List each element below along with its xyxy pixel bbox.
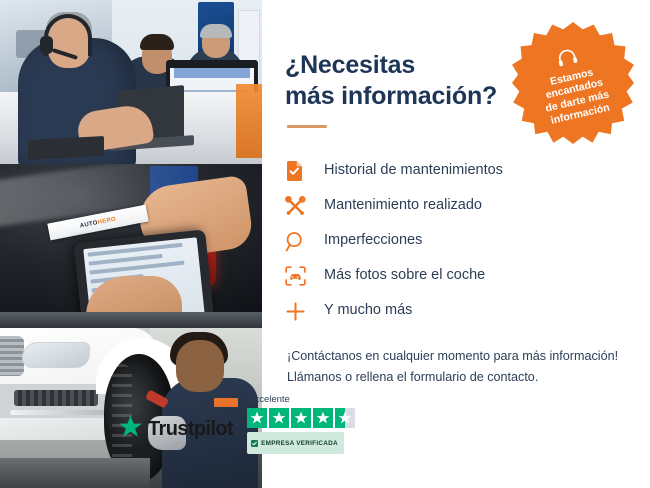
trustpilot-star-icon — [118, 415, 143, 444]
rating-star-full — [313, 408, 333, 428]
contact-paragraph: ¡Contáctanos en cualquier momento para m… — [287, 346, 624, 388]
headline-line-2: más información? — [285, 82, 497, 110]
list-item-label: Historial de mantenimientos — [324, 163, 503, 179]
trustpilot-rating-block[interactable]: Trustpilot Excelente — [118, 394, 355, 454]
wrench-screwdriver-icon — [285, 196, 315, 217]
ruler-brand-text: AUTOHERO — [79, 216, 116, 229]
car-inspection-ruler-photo: AUTOHERO — [0, 164, 262, 328]
headset-earcup — [40, 36, 53, 54]
car-grille — [0, 336, 24, 376]
workshop-floor-rail — [0, 312, 262, 328]
list-item: Historial de mantenimientos — [285, 154, 624, 188]
mechanic-head — [176, 340, 224, 392]
rating-star-full — [291, 408, 311, 428]
list-item: Más fotos sobre el coche — [285, 259, 624, 293]
feature-list: Historial de mantenimientos — [285, 154, 624, 328]
trustpilot-score: Excelente — [247, 394, 355, 454]
info-banner: AUTOHERO — [0, 0, 650, 488]
title-underline-divider — [287, 125, 327, 128]
desk-tablet — [28, 136, 104, 160]
list-item-label: Imperfecciones — [324, 233, 422, 249]
verified-label: EMPRESA VERIFICADA — [261, 440, 338, 447]
contact-line-1: ¡Contáctanos en cualquier momento para m… — [287, 346, 624, 367]
background-agent-hair — [140, 34, 174, 50]
rating-star-half — [335, 408, 355, 428]
chrome-trim — [10, 410, 106, 415]
trustpilot-stars — [247, 408, 355, 428]
trustpilot-rating-label: Excelente — [248, 394, 290, 405]
badge-content: Estamos encantados de darte más informac… — [500, 10, 646, 156]
contact-line-2: Llámanos o rellena el formulario de cont… — [287, 367, 624, 388]
list-item-label: Mantenimiento realizado — [324, 198, 482, 214]
list-item: Y mucho más — [285, 294, 624, 328]
document-check-icon — [285, 160, 315, 182]
badge-text: Estamos encantados de darte más informac… — [523, 60, 628, 131]
magnifier-icon — [285, 231, 315, 252]
tablet-screen-line — [88, 243, 183, 257]
list-item-label: Y mucho más — [324, 303, 412, 319]
bumper-vent — [14, 390, 98, 406]
status-badge: EMPRESA VERIFICADA — [247, 432, 344, 454]
car-lift-platform — [0, 458, 150, 488]
trustpilot-logo[interactable]: Trustpilot — [118, 415, 233, 454]
call-center-agents-photo — [0, 0, 262, 164]
plus-icon — [285, 301, 315, 322]
list-item: Mantenimiento realizado — [285, 189, 624, 223]
promo-starburst-badge: Estamos encantados de darte más informac… — [512, 22, 634, 144]
list-item-label: Más fotos sobre el coche — [324, 268, 485, 284]
rating-star-full — [269, 408, 289, 428]
car-headlight — [22, 342, 90, 368]
car-scan-icon — [285, 266, 315, 286]
headline-line-1: ¿Necesitas — [285, 51, 415, 79]
trustpilot-wordmark: Trustpilot — [148, 418, 233, 441]
far-agent-hair — [200, 24, 232, 38]
rating-star-full — [247, 408, 267, 428]
verified-check-icon — [251, 434, 258, 452]
orange-equipment — [236, 84, 262, 158]
page-title: ¿Necesitas más información? — [285, 50, 515, 111]
list-item: Imperfecciones — [285, 224, 624, 258]
